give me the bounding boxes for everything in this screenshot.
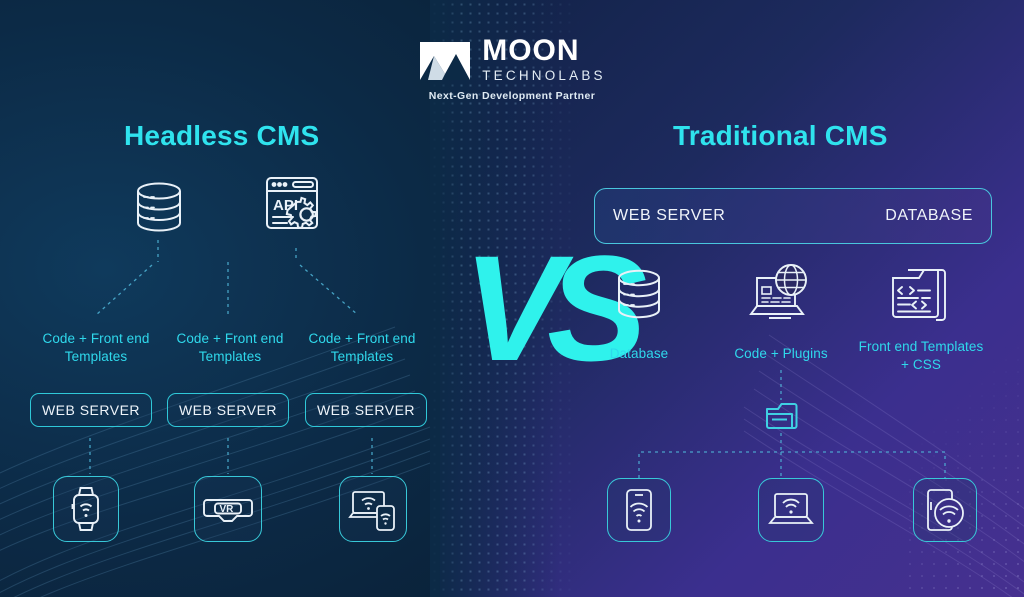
traditional-device-2[interactable] bbox=[758, 478, 824, 542]
tablet-wifi-icon bbox=[923, 488, 967, 532]
stack-web-server-label: WEB SERVER bbox=[613, 207, 725, 225]
traditional-cms-title: Traditional CMS bbox=[673, 120, 888, 152]
mountain-logo-icon bbox=[418, 40, 472, 82]
traditional-caption-3: Front end Templates + CSS bbox=[855, 338, 987, 374]
headless-caption-1: Code + Front end Templates bbox=[26, 330, 166, 366]
headless-caption-2: Code + Front end Templates bbox=[160, 330, 300, 366]
headless-caption-3: Code + Front end Templates bbox=[292, 330, 432, 366]
vr-headset-icon: VR bbox=[203, 492, 253, 526]
headless-device-1[interactable] bbox=[53, 476, 119, 542]
traditional-laptop-globe-icon bbox=[745, 262, 817, 328]
stack-database-label: DATABASE bbox=[885, 207, 973, 225]
smartwatch-wifi-icon bbox=[67, 486, 105, 532]
phone-wifi-icon bbox=[623, 488, 655, 532]
traditional-database-icon bbox=[609, 266, 669, 326]
traditional-caption-1: Database bbox=[574, 345, 704, 363]
laptop-phone-icon bbox=[349, 487, 397, 531]
traditional-device-3[interactable] bbox=[913, 478, 977, 542]
traditional-folder-icon bbox=[765, 401, 799, 431]
svg-text:VR: VR bbox=[220, 504, 235, 515]
traditional-stack-box[interactable]: WEB SERVER DATABASE bbox=[594, 188, 992, 244]
headless-web-server-3[interactable]: WEB SERVER bbox=[305, 393, 427, 427]
logo-name: MOON bbox=[482, 36, 579, 66]
headless-web-server-1[interactable]: WEB SERVER bbox=[30, 393, 152, 427]
traditional-device-1[interactable] bbox=[607, 478, 671, 542]
infographic-canvas: MOON TECHNOLABS Next-Gen Development Par… bbox=[0, 0, 1024, 597]
headless-api-gear-icon: API bbox=[263, 174, 333, 242]
headless-database-icon bbox=[128, 178, 190, 240]
traditional-code-file-icon bbox=[888, 264, 954, 326]
brand-logo: MOON TECHNOLABS Next-Gen Development Par… bbox=[0, 36, 1024, 102]
headless-device-2[interactable]: VR bbox=[194, 476, 262, 542]
logo-sub: TECHNOLABS bbox=[482, 66, 606, 86]
laptop-wifi-icon bbox=[768, 491, 814, 529]
traditional-caption-2: Code + Plugins bbox=[716, 345, 846, 363]
headless-cms-title: Headless CMS bbox=[124, 120, 319, 152]
headless-web-server-2[interactable]: WEB SERVER bbox=[167, 393, 289, 427]
headless-device-3[interactable] bbox=[339, 476, 407, 542]
logo-tagline: Next-Gen Development Partner bbox=[429, 90, 595, 102]
